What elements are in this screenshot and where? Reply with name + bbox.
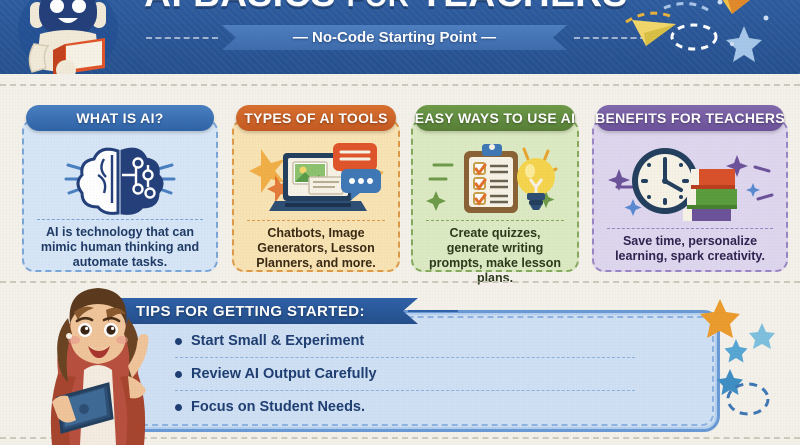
list-item[interactable]: Start Small & Experiment xyxy=(175,325,655,357)
card-header: EASY WAYS TO USE AI xyxy=(415,105,575,131)
card-body: Create quizzes, generate writing prompts… xyxy=(411,119,579,272)
title-small: FOR xyxy=(347,0,410,13)
card-benefits-for-teachers[interactable]: Save time, personalize learning, spark c… xyxy=(590,104,790,270)
clipboard-checklist-lightbulb-icon xyxy=(413,139,577,219)
card-divider xyxy=(247,220,385,221)
card-types-of-ai-tools[interactable]: Chatbots, Image Generators, Lesson Plann… xyxy=(230,104,402,270)
divider-top xyxy=(0,84,800,86)
card-caption: Save time, personalize learning, spark c… xyxy=(603,234,777,264)
card-caption: Create quizzes, generate writing prompts… xyxy=(422,226,568,286)
tip-text: Start Small & Experiment xyxy=(191,333,364,349)
ribbon-dash-left xyxy=(146,37,218,39)
card-header: TYPES OF AI TOOLS xyxy=(236,105,396,131)
card-header: BENEFITS FOR TEACHERS xyxy=(596,105,784,131)
card-body: Chatbots, Image Generators, Lesson Plann… xyxy=(232,119,400,272)
page-title: AI BASICS FOR TEACHERS xyxy=(136,0,636,18)
paper-planes-decoration-icon xyxy=(616,0,786,62)
subtitle-text: — No-Code Starting Point — xyxy=(293,29,496,46)
card-easy-ways-to-use-ai[interactable]: Create quizzes, generate writing prompts… xyxy=(409,104,581,270)
bullet-icon xyxy=(175,371,182,378)
subtitle-ribbon: — No-Code Starting Point — xyxy=(222,25,567,50)
card-heading: TYPES OF AI TOOLS xyxy=(244,110,388,126)
header-banner: AI BASICS FOR TEACHERS — No-Code Startin… xyxy=(0,0,800,74)
card-body: Save time, personalize learning, spark c… xyxy=(592,119,788,272)
card-heading: WHAT IS AI? xyxy=(76,110,163,126)
tip-text: Focus on Student Needs. xyxy=(191,399,365,415)
stars-decoration-icon xyxy=(700,295,795,420)
card-what-is-ai[interactable]: AI is technology that can mimic human th… xyxy=(20,104,220,270)
clock-books-icon xyxy=(594,139,786,227)
brain-circuit-icon xyxy=(24,139,216,218)
tips-list: Start Small & Experiment Review AI Outpu… xyxy=(175,325,655,423)
card-divider xyxy=(607,228,773,229)
card-header: WHAT IS AI? xyxy=(26,105,214,131)
card-heading: EASY WAYS TO USE AI xyxy=(415,110,576,126)
bullet-icon xyxy=(175,404,182,411)
tips-header-dash xyxy=(408,310,458,312)
title-end: TEACHERS xyxy=(420,0,628,14)
tip-text: Review AI Output Carefully xyxy=(191,366,377,382)
card-divider xyxy=(426,220,564,221)
teacher-illustration-icon xyxy=(28,282,168,445)
tips-heading: TIPS FOR GETTING STARTED: xyxy=(136,303,365,320)
card-caption: Chatbots, Image Generators, Lesson Plann… xyxy=(243,226,389,271)
card-body: AI is technology that can mimic human th… xyxy=(22,119,218,272)
bullet-icon xyxy=(175,338,182,345)
list-item[interactable]: Focus on Student Needs. xyxy=(175,391,655,423)
cards-row: AI is technology that can mimic human th… xyxy=(0,104,800,270)
title-main: AI BASICS xyxy=(144,0,336,14)
list-item[interactable]: Review AI Output Carefully xyxy=(175,358,655,390)
card-caption: AI is technology that can mimic human th… xyxy=(33,225,207,270)
robot-mascot-icon xyxy=(10,0,126,74)
card-divider xyxy=(37,219,203,220)
card-heading: BENEFITS FOR TEACHERS xyxy=(595,110,785,126)
laptop-chat-bubbles-icon xyxy=(234,139,398,219)
